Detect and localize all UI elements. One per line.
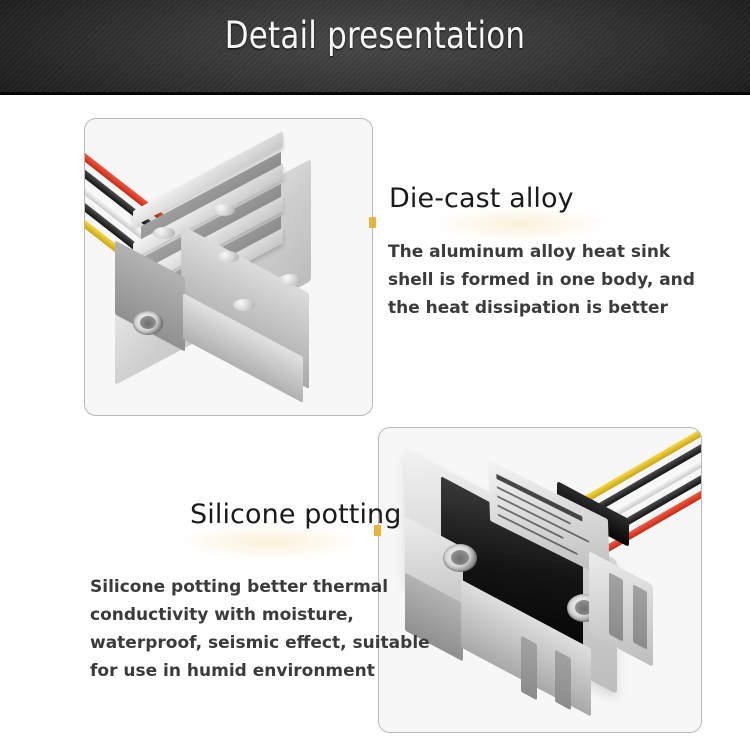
housing-front-slot-2 — [555, 650, 571, 711]
section-body-silicone-potting: Silicone potting better thermal conducti… — [90, 573, 430, 685]
body-line: shell is formed in one body, and — [388, 266, 695, 294]
product-illustration-heatsink — [85, 119, 372, 415]
body-line: The aluminum alloy heat sink — [388, 238, 695, 266]
body-line: conductivity with moisture, — [90, 601, 430, 629]
housing-front-slot-1 — [521, 636, 537, 701]
body-line: the heat dissipation is better — [388, 294, 695, 322]
product-image-card-die-cast-alloy — [84, 118, 373, 416]
callout-marker-silicone — [374, 525, 381, 536]
mounting-boss-3 — [217, 251, 239, 263]
section-body-die-cast-alloy: The aluminum alloy heat sink shell is fo… — [388, 238, 695, 322]
mounting-boss-1 — [213, 204, 235, 216]
mounting-boss-4 — [279, 274, 301, 286]
page-banner: Detail presentation — [0, 0, 750, 95]
mounting-hole-left — [443, 544, 477, 572]
mounting-hole-left — [133, 311, 163, 335]
section-heading-die-cast-alloy: Die-cast alloy — [389, 183, 574, 214]
mounting-boss-2 — [153, 227, 175, 239]
page-title: Detail presentation — [26, 14, 724, 57]
mounting-hole-bore — [451, 550, 469, 565]
housing-fin-slot-2 — [633, 584, 647, 649]
body-line: waterproof, seismic effect, suitable — [90, 629, 430, 657]
section-heading-silicone-potting: Silicone potting — [190, 499, 358, 530]
housing-fin-slot-1 — [609, 572, 623, 641]
mounting-hole-bore — [140, 316, 156, 329]
callout-marker-die-cast — [369, 217, 376, 228]
detail-presentation-page: Detail presentation — [0, 0, 750, 750]
body-line: Silicone potting better thermal — [90, 573, 430, 601]
mounting-boss-5 — [233, 299, 255, 311]
body-line: for use in humid environment — [90, 657, 430, 685]
